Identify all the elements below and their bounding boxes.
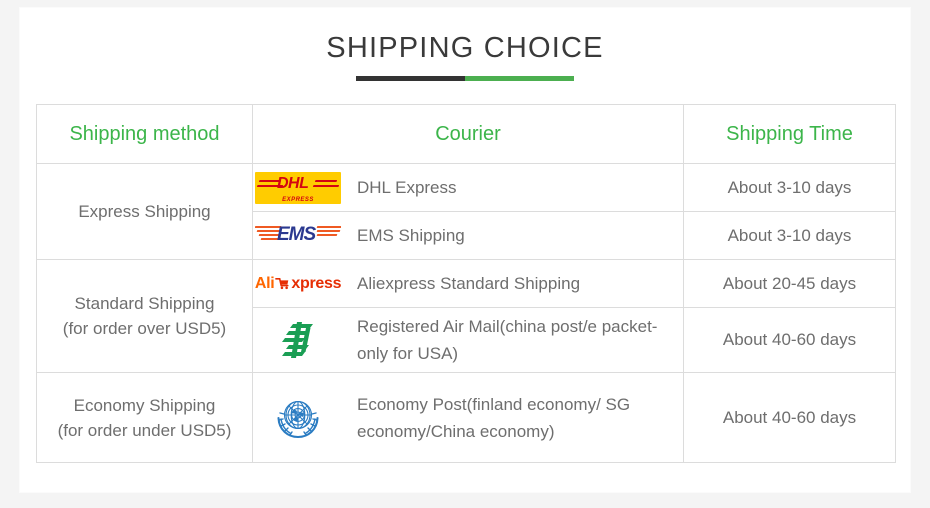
courier-label: EMS Shipping — [357, 222, 465, 249]
courier-cell-china-post: Registered Air Mail(china post/e packet-… — [253, 308, 684, 373]
table-header-row: Shipping method Courier Shipping Time — [37, 105, 896, 164]
method-cell-express: Express Shipping — [37, 164, 253, 260]
method-note: (for order over USD5) — [37, 316, 252, 341]
method-label: Standard Shipping — [37, 291, 252, 316]
column-header-courier: Courier — [253, 105, 684, 164]
table-row: Express Shipping DHL EXPRESS DHL Expr — [37, 164, 896, 212]
method-cell-standard: Standard Shipping (for order over USD5) — [37, 260, 253, 373]
time-cell: About 3-10 days — [684, 164, 896, 212]
aliexpress-logo-ali: Ali — [255, 275, 275, 293]
method-note: (for order under USD5) — [37, 418, 252, 443]
time-cell: About 40-60 days — [684, 308, 896, 373]
title-underline — [356, 76, 574, 81]
aliexpress-logo-xpress: xpress — [291, 275, 341, 293]
shipping-table: Shipping method Courier Shipping Time Ex… — [36, 104, 896, 463]
courier-cell-un-post: Economy Post(finland economy/ SG economy… — [253, 373, 684, 463]
underline-right — [465, 76, 574, 81]
header: SHIPPING CHOICE — [20, 8, 910, 81]
column-header-shipping-method: Shipping method — [37, 105, 253, 164]
table-row: Standard Shipping (for order over USD5) … — [37, 260, 896, 308]
courier-cell-aliexpress: Ali xpress Aliexpress Standard Shi — [253, 260, 684, 308]
method-label: Economy Shipping — [37, 393, 252, 418]
united-nations-emblem-icon — [272, 392, 324, 444]
dhl-logo-subtext: EXPRESS — [255, 197, 341, 203]
courier-label: DHL Express — [357, 174, 457, 201]
underline-left — [356, 76, 465, 81]
column-header-shipping-time: Shipping Time — [684, 105, 896, 164]
un-post-logo — [253, 392, 343, 444]
dhl-logo-text: DHL — [277, 175, 308, 193]
time-cell: About 40-60 days — [684, 373, 896, 463]
method-cell-economy: Economy Shipping (for order under USD5) — [37, 373, 253, 463]
courier-cell-ems: EMS EMS Shipping — [253, 212, 684, 260]
dhl-logo: DHL EXPRESS — [253, 172, 343, 204]
shopping-cart-icon — [275, 276, 290, 291]
courier-cell-dhl: DHL EXPRESS DHL Express — [253, 164, 684, 212]
time-cell: About 20-45 days — [684, 260, 896, 308]
china-post-logo — [253, 318, 343, 362]
courier-label: Aliexpress Standard Shipping — [357, 270, 580, 297]
shipping-choice-card: SHIPPING CHOICE Shipping method Courier … — [20, 8, 910, 492]
aliexpress-logo: Ali xpress — [253, 275, 343, 293]
time-cell: About 3-10 days — [684, 212, 896, 260]
ems-logo-text: EMS — [277, 224, 315, 246]
china-post-icon — [276, 318, 320, 362]
courier-label: Economy Post(finland economy/ SG economy… — [357, 391, 683, 445]
method-label: Express Shipping — [37, 199, 252, 224]
table-row: Economy Shipping (for order under USD5) — [37, 373, 896, 463]
page-title: SHIPPING CHOICE — [20, 30, 910, 66]
ems-logo: EMS — [253, 221, 343, 251]
courier-label: Registered Air Mail(china post/e packet-… — [357, 313, 683, 367]
